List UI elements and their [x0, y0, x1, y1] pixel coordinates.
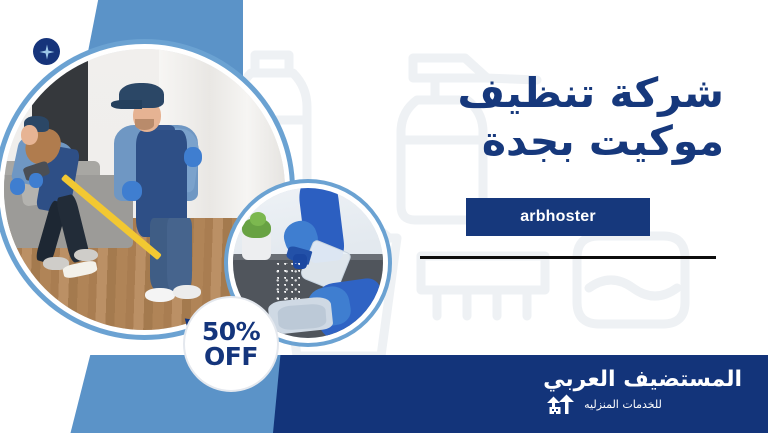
arbhoster-button[interactable]: arbhoster	[466, 198, 650, 236]
divider-rule	[420, 256, 716, 259]
promo-banner: 50% OFF شركة تنظيف موكيت بجدة arbhoster …	[0, 0, 768, 433]
brand-tagline: للخدمات المنزليه	[584, 398, 662, 411]
page-title: شركة تنظيف موكيت بجدة	[392, 70, 724, 166]
discount-percent: 50%	[202, 319, 260, 345]
content-block: شركة تنظيف موكيت بجدة arbhoster	[392, 70, 724, 259]
brand-name: المستضيف العربي	[543, 368, 742, 391]
brand-logo: المستضيف العربي للخدمات المنزليه	[543, 368, 742, 415]
brand-tagline-row: للخدمات المنزليه	[543, 393, 662, 415]
discount-label: OFF	[204, 344, 258, 370]
house-icon	[543, 393, 577, 415]
cta-wrapper: arbhoster	[392, 198, 724, 236]
discount-badge: 50% OFF	[183, 296, 279, 392]
